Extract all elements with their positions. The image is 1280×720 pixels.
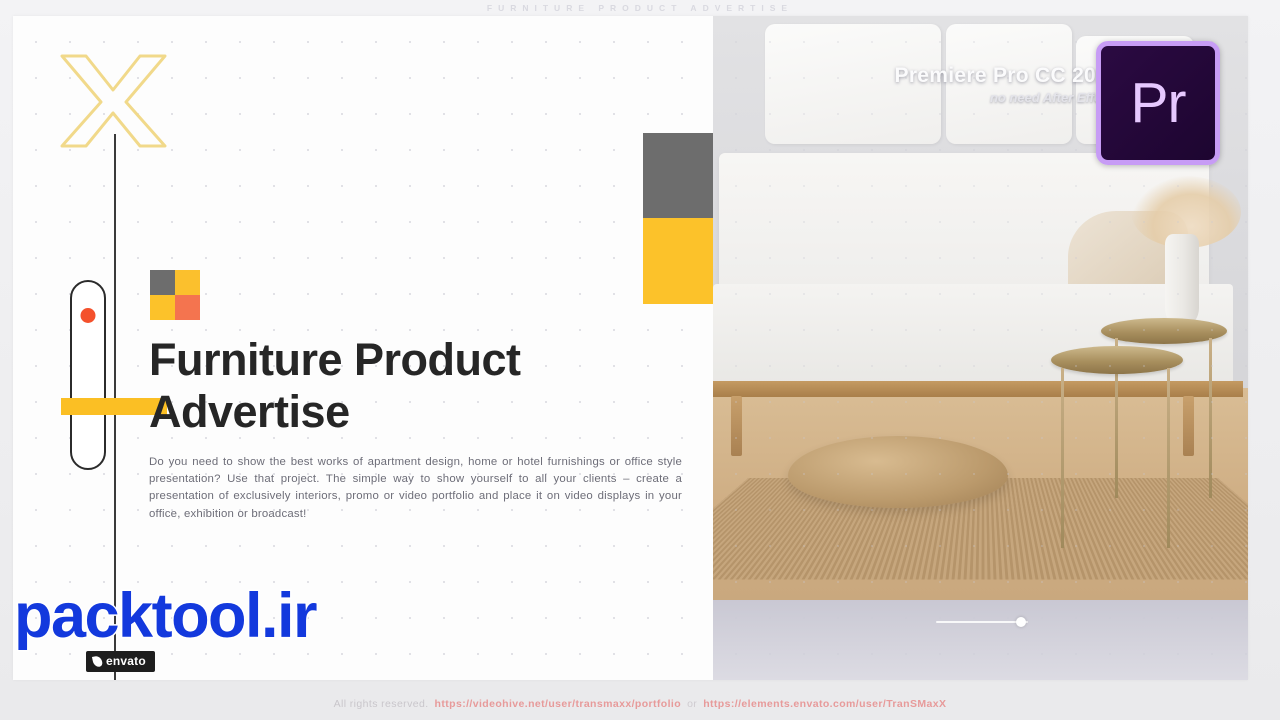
app-subtitle-text: no need After Effects — [895, 90, 1120, 105]
footer-rights-text: All rights reserved. — [334, 698, 429, 710]
footer-link-secondary[interactable]: https://elements.envato.com/user/TranSMa… — [703, 698, 946, 710]
footer-separator: or — [687, 698, 697, 710]
swatch-2 — [175, 270, 200, 295]
app-title-text: Premiere Pro CC 2021 — [895, 64, 1120, 88]
envato-label: envato — [106, 654, 146, 668]
watermark-text: packtool.ir — [14, 585, 316, 648]
swatch-1 — [150, 270, 175, 295]
slider-track — [936, 621, 1028, 623]
premiere-pro-badge: Pr — [1096, 41, 1220, 165]
slide-preview: FURNITURE PRODUCT ADVERTISE — [0, 0, 1280, 720]
block-yellow — [643, 218, 713, 304]
pill-outline-shape — [70, 280, 106, 470]
progress-slider[interactable] — [936, 616, 1028, 628]
swatch-4 — [175, 295, 200, 320]
headline-line-2: Advertise — [149, 386, 689, 438]
footer-bar: All rights reserved. https://videohive.n… — [0, 698, 1280, 710]
x-logo-icon — [56, 50, 171, 150]
pr-badge-label: Pr — [1131, 75, 1186, 132]
envato-logo: envato — [86, 651, 155, 672]
slider-knob[interactable] — [1016, 617, 1026, 627]
top-kicker-strip: FURNITURE PRODUCT ADVERTISE — [0, 0, 1280, 16]
block-gray — [643, 133, 713, 218]
body-paragraph: Do you need to show the best works of ap… — [149, 454, 682, 523]
accent-dot-icon — [81, 308, 96, 323]
envato-leaf-icon — [92, 655, 103, 668]
swatch-3 — [150, 295, 175, 320]
color-swatch-grid — [150, 270, 200, 320]
headline-line-1: Furniture Product — [149, 334, 689, 386]
page-title: Furniture Product Advertise — [149, 334, 689, 438]
footer-link-primary[interactable]: https://videohive.net/user/transmaxx/por… — [435, 698, 682, 710]
app-caption: Premiere Pro CC 2021 no need After Effec… — [895, 64, 1120, 105]
top-kicker-text: FURNITURE PRODUCT ADVERTISE — [487, 3, 793, 13]
